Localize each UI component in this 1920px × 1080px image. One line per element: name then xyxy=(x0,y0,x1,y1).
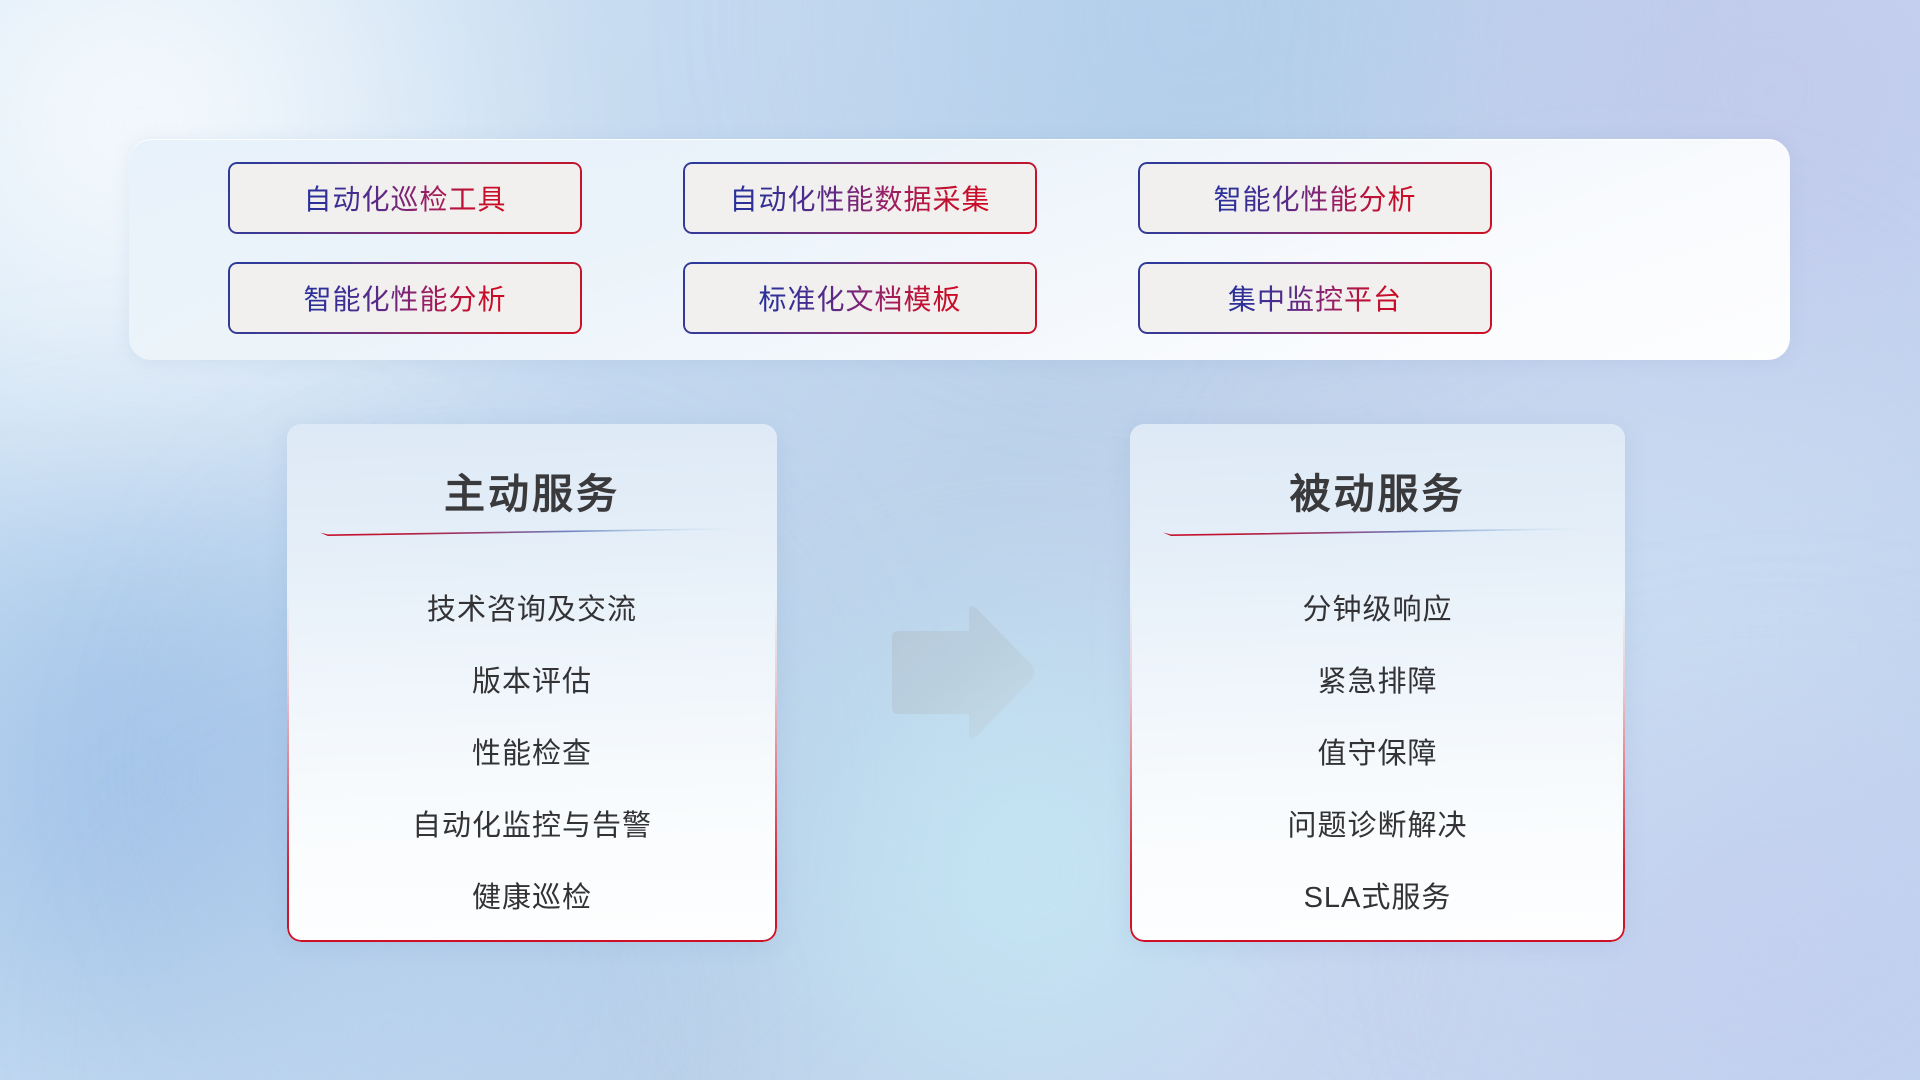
capability-tag-label: 自动化巡检工具 xyxy=(303,178,506,218)
list-item[interactable]: 健康巡检 xyxy=(287,862,777,934)
list-item[interactable]: 问题诊断解决 xyxy=(1130,790,1625,862)
proactive-service-title: 主动服务 xyxy=(287,460,777,520)
list-item[interactable]: SLA式服务 xyxy=(1130,862,1625,934)
capability-tag-label: 标准化文档模板 xyxy=(758,278,961,318)
reactive-service-list: 分钟级响应 紧急排障 值守保障 问题诊断解决 SLA式服务 xyxy=(1130,574,1625,934)
list-item[interactable]: 性能检查 xyxy=(287,718,777,790)
proactive-service-list: 技术咨询及交流 版本评估 性能检查 自动化监控与告警 健康巡检 xyxy=(287,574,777,934)
capability-tag-5[interactable]: 标准化文档模板 xyxy=(683,262,1037,334)
reactive-title-divider xyxy=(1163,527,1595,536)
capability-tag-2[interactable]: 自动化性能数据采集 xyxy=(683,162,1037,234)
capability-tag-grid: 自动化巡检工具 自动化性能数据采集 智能化性能分析 智能化性能分析 标准化文档模… xyxy=(228,162,1692,334)
capability-tag-label: 集中监控平台 xyxy=(1228,278,1402,318)
list-item[interactable]: 分钟级响应 xyxy=(1130,574,1625,646)
reactive-service-card[interactable]: 被动服务 分钟级响应 紧急排障 值守保障 xyxy=(1130,424,1625,942)
capability-tag-label: 智能化性能分析 xyxy=(303,278,506,318)
reactive-service-title: 被动服务 xyxy=(1130,460,1625,520)
capability-tag-1[interactable]: 自动化巡检工具 xyxy=(228,162,582,234)
proactive-service-card[interactable]: 主动服务 技术咨询及交流 版本评估 性能检查 xyxy=(287,424,777,942)
list-item[interactable]: 紧急排障 xyxy=(1130,646,1625,718)
capability-tag-label: 智能化性能分析 xyxy=(1213,178,1416,218)
proactive-title-divider xyxy=(320,527,747,536)
list-item[interactable]: 值守保障 xyxy=(1130,718,1625,790)
capability-tag-label: 自动化性能数据采集 xyxy=(729,178,990,218)
list-item[interactable]: 自动化监控与告警 xyxy=(287,790,777,862)
capability-tag-3[interactable]: 智能化性能分析 xyxy=(1138,162,1492,234)
list-item[interactable]: 版本评估 xyxy=(287,646,777,718)
capability-tag-6[interactable]: 集中监控平台 xyxy=(1138,262,1492,334)
capability-tag-4[interactable]: 智能化性能分析 xyxy=(228,262,582,334)
slide-canvas: 自动化巡检工具 自动化性能数据采集 智能化性能分析 智能化性能分析 标准化文档模… xyxy=(0,0,1920,1080)
right-arrow-icon xyxy=(884,603,1037,742)
list-item[interactable]: 技术咨询及交流 xyxy=(287,574,777,646)
capability-tag-panel: 自动化巡检工具 自动化性能数据采集 智能化性能分析 智能化性能分析 标准化文档模… xyxy=(129,139,1790,360)
